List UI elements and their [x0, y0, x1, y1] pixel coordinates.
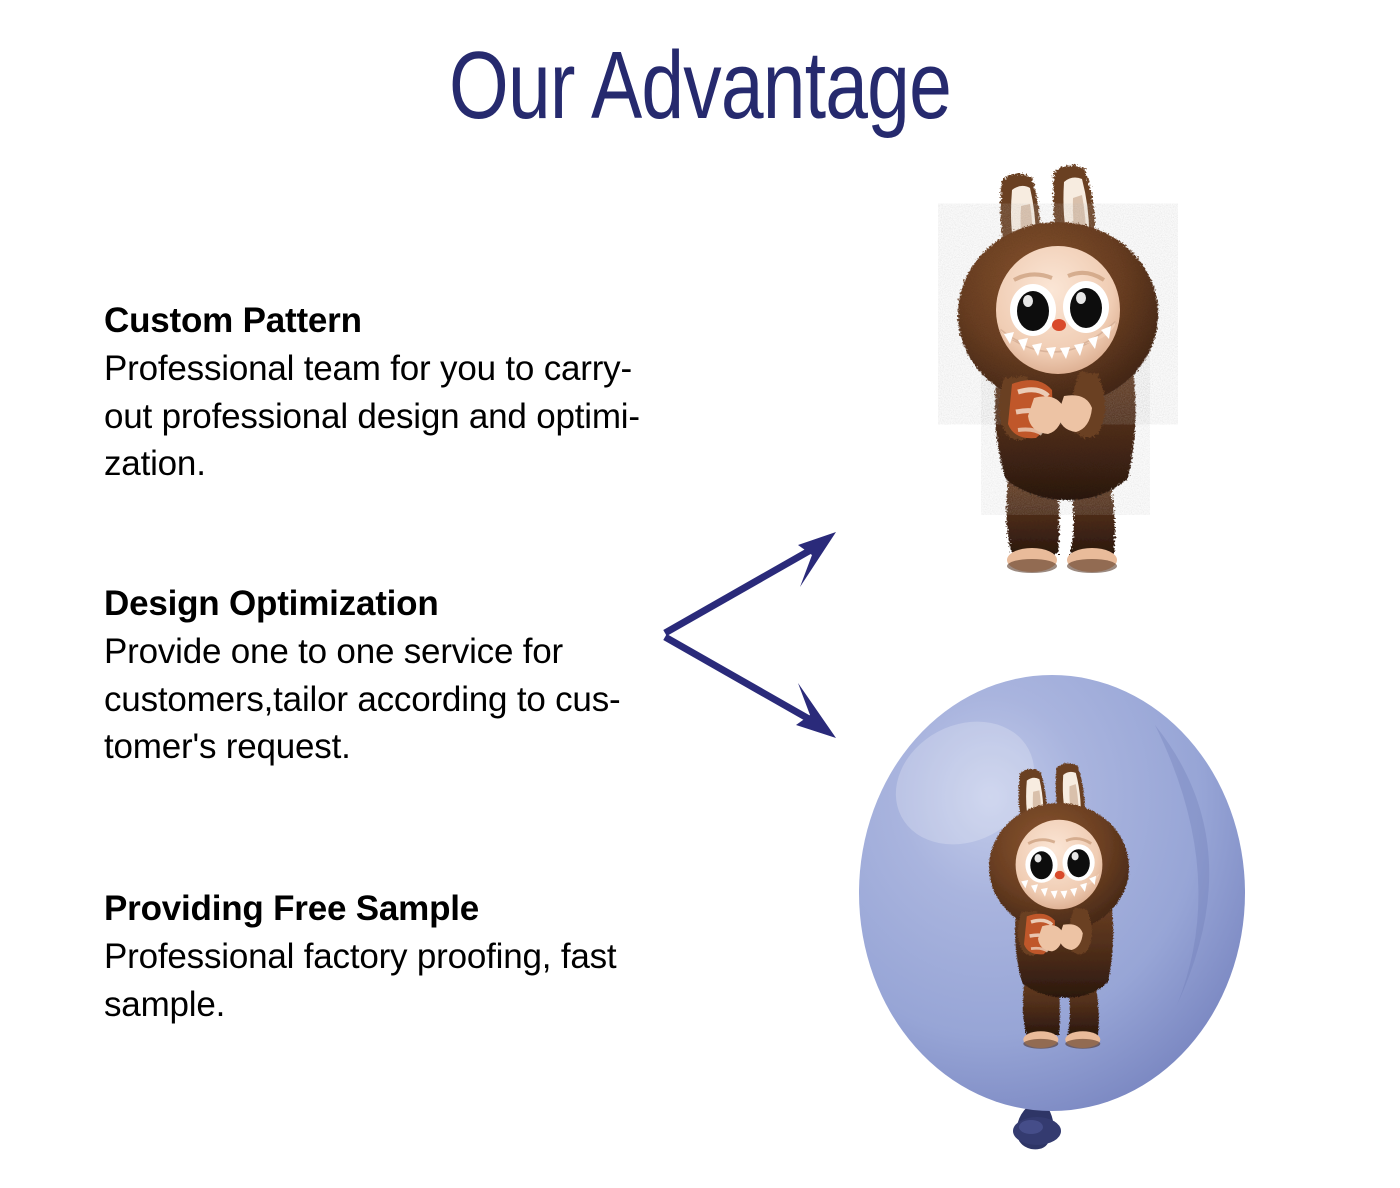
feature-heading: Custom Pattern [104, 300, 794, 341]
feature-body: Professional factory proofing, fast samp… [104, 933, 794, 1028]
arrow-down-head-icon [796, 683, 836, 738]
plush-nose [1052, 319, 1066, 331]
feature-body: Professional team for you to carry- out … [104, 345, 794, 488]
branching-arrows [640, 505, 870, 765]
plush-foot-shadow-left [1007, 559, 1057, 573]
feature-block-providing-free-sample: Providing Free Sample Professional facto… [104, 888, 794, 1028]
plush-foot-shadow-right [1067, 559, 1117, 573]
plush-character-photo [938, 162, 1178, 590]
balloon-with-print [855, 665, 1270, 1170]
arrow-up-shaft [665, 547, 816, 633]
page-title: Our Advantage [140, 36, 1260, 137]
arrow-up-head-icon [798, 532, 836, 587]
advantage-infographic: Our Advantage Custom Pattern Professiona… [0, 0, 1400, 1188]
feature-heading: Providing Free Sample [104, 888, 794, 929]
feature-block-custom-pattern: Custom Pattern Professional team for you… [104, 300, 794, 488]
arrow-down-shaft [665, 637, 816, 723]
